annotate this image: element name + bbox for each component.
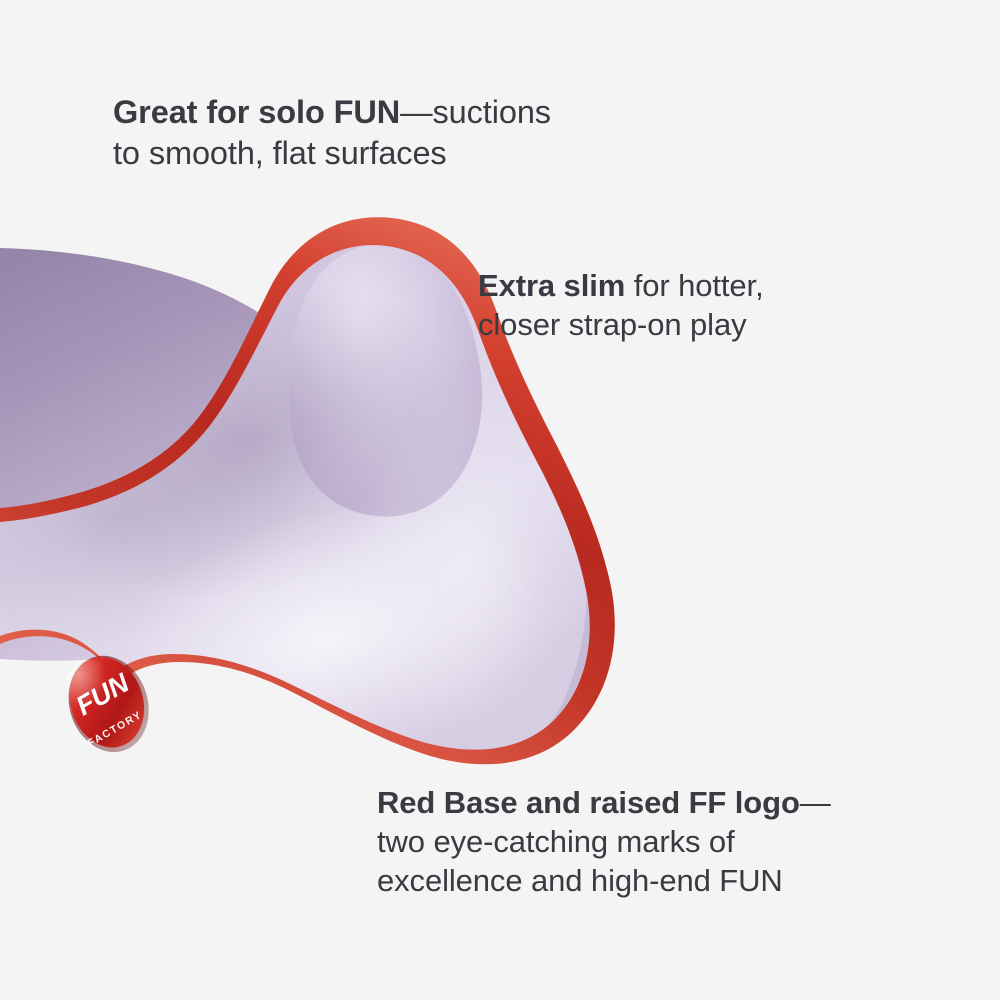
callout-solo-fun: Great for solo FUN—suctions to smooth, f… — [113, 92, 551, 174]
upper-left-shadow — [0, 352, 336, 687]
badge-text-factory: FACTORY — [86, 709, 145, 750]
product-infographic-canvas: FUN FACTORY Great for solo FUN—suctions … — [0, 0, 1000, 1000]
shaft-valley-shadow — [0, 220, 506, 659]
callout-extra-slim-lead: Extra slim — [478, 268, 625, 303]
callout-red-base-logo-rest: — — [800, 785, 831, 820]
callout-solo-fun-line1: Great for solo FUN—suctions — [113, 92, 551, 133]
callout-red-base-logo: Red Base and raised FF logo— two eye-cat… — [377, 783, 831, 900]
product-shaft — [0, 248, 361, 661]
fun-factory-logo-badge: FUN FACTORY — [56, 644, 161, 762]
callout-extra-slim-rest: for hotter, — [625, 268, 763, 303]
callout-extra-slim-line1: Extra slim for hotter, — [478, 266, 764, 305]
callout-red-base-logo-lead: Red Base and raised FF logo — [377, 785, 800, 820]
callout-solo-fun-rest: —suctions — [400, 94, 551, 130]
callout-extra-slim-line2: closer strap-on play — [478, 305, 764, 344]
callout-solo-fun-line2: to smooth, flat surfaces — [113, 133, 551, 174]
base-gloss-highlight — [75, 458, 584, 822]
badge-text-fun: FUN — [71, 667, 134, 721]
callout-red-base-logo-line2: two eye-catching marks of — [377, 822, 831, 861]
base-top-bump — [289, 245, 482, 517]
callout-extra-slim: Extra slim for hotter, closer strap-on p… — [478, 266, 764, 344]
badge-outer-ring — [56, 645, 160, 762]
badge-gloss — [58, 652, 124, 725]
callout-solo-fun-lead: Great for solo FUN — [113, 94, 400, 130]
callout-red-base-logo-line3: excellence and high-end FUN — [377, 861, 831, 900]
base-gloss-secondary — [325, 360, 614, 760]
badge-face — [59, 647, 156, 757]
callout-red-base-logo-line1: Red Base and raised FF logo— — [377, 783, 831, 822]
